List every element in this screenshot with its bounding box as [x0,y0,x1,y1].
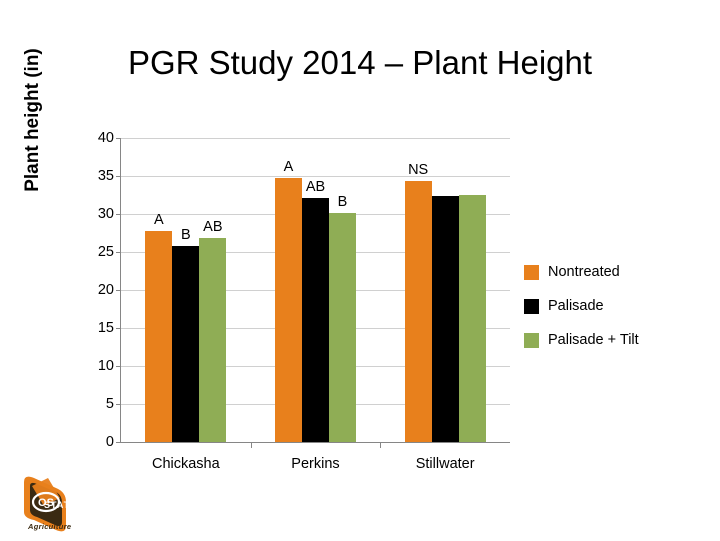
bar-value-annotation: A [154,212,164,228]
legend-label: Palisade + Tilt [548,332,639,348]
legend-item[interactable]: Palisade [524,289,704,323]
x-axis-tick [380,442,381,448]
bar-value-annotation: AB [203,219,222,235]
legend-swatch [524,299,539,314]
bar [459,195,486,442]
slide: PGR Study 2014 – Plant Height Plant heig… [0,0,720,540]
logo-text: STATE [44,500,77,510]
y-axis-tick-label: 40 [98,130,114,146]
bar: B [329,213,356,442]
y-axis-title: Plant height (in) [22,20,44,220]
bar [432,196,459,442]
legend-item[interactable]: Nontreated [524,255,704,289]
x-axis-category-label: Chickasha [121,456,251,472]
bar: A [275,178,302,442]
bar: AB [302,198,329,442]
x-axis-category-label: Stillwater [380,456,510,472]
legend-swatch [524,265,539,280]
y-axis-tick-label: 10 [98,358,114,374]
y-axis-tick-label: 25 [98,244,114,260]
bar-group: AABBPerkins [251,138,381,442]
bar: AB [199,238,226,442]
chart-legend: NontreatedPalisadePalisade + Tilt [524,255,704,357]
bar-chart: Plant height (in) 0510152025303540ABABCh… [0,120,720,490]
legend-item[interactable]: Palisade + Tilt [524,323,704,357]
x-axis-category-label: Perkins [251,456,381,472]
oklahoma-state-agriculture-logo: OS STATE Agriculture [22,472,106,536]
y-axis-tick-label: 35 [98,168,114,184]
page-title: PGR Study 2014 – Plant Height [0,44,720,82]
y-axis-tick-label: 5 [106,396,114,412]
bar-value-annotation: AB [306,179,325,195]
y-axis-tick-label: 0 [106,434,114,450]
bar-value-annotation: B [181,227,191,243]
y-axis-tick-label: 15 [98,320,114,336]
bar-value-annotation: B [338,194,348,210]
bar: B [172,246,199,442]
y-axis-tick [116,442,121,443]
legend-label: Nontreated [548,264,620,280]
bar: NS [405,181,432,442]
bar-value-annotation: NS [408,162,428,178]
y-axis-tick-label: 20 [98,282,114,298]
plot-area: 0510152025303540ABABChickashaAABBPerkins… [120,138,510,443]
bar-group: ABABChickasha [121,138,251,442]
logo-subtext: Agriculture [28,522,71,531]
legend-label: Palisade [548,298,604,314]
bar-group: NSStillwater [380,138,510,442]
bar: A [145,231,172,442]
y-axis-tick-label: 30 [98,206,114,222]
x-axis-tick [251,442,252,448]
bar-value-annotation: A [284,159,294,175]
legend-swatch [524,333,539,348]
